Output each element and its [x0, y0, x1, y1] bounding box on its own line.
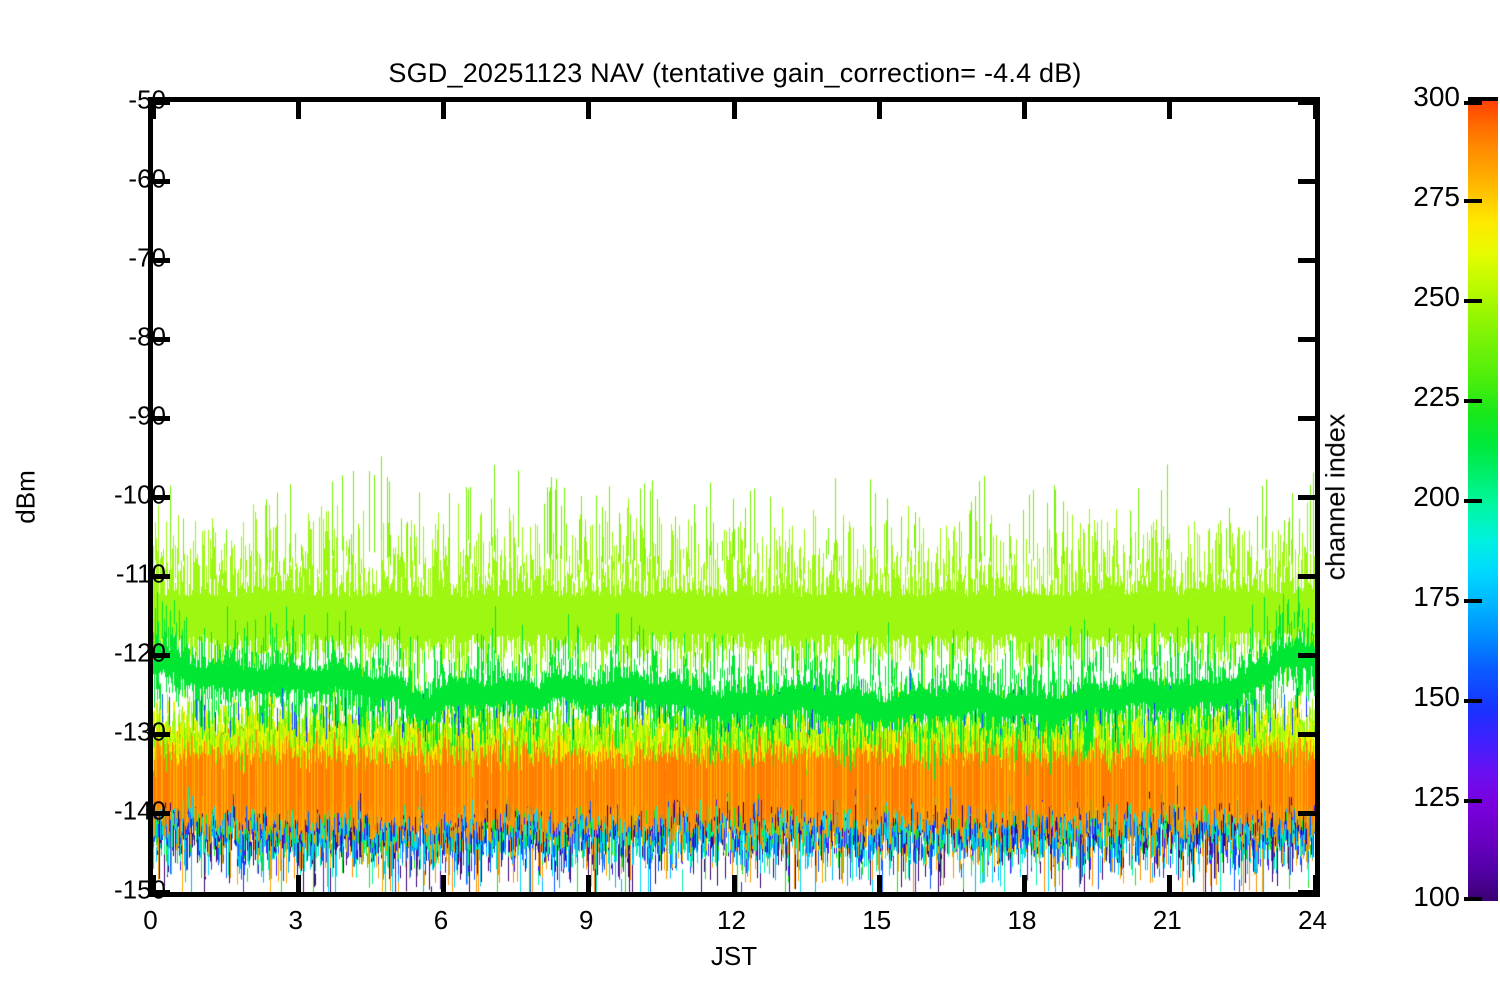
colorbar-tick [1464, 499, 1482, 503]
colorbar-tick-label: 200 [1413, 481, 1460, 513]
figure-root: SGD_20251123 NAV (tentative gain_correct… [0, 0, 1500, 1000]
x-tick [877, 875, 882, 897]
y-tick-label: -130 [114, 716, 166, 747]
y-tick-right [1298, 337, 1320, 342]
x-tick [732, 875, 737, 897]
x-tick-top [441, 97, 446, 119]
colorbar-tick-label: 250 [1413, 281, 1460, 313]
y-tick-label: -70 [128, 242, 166, 273]
colorbar-tick [1464, 599, 1482, 603]
y-tick-label: -50 [128, 84, 166, 115]
x-tick-top [296, 97, 301, 119]
y-tick-label: -60 [128, 163, 166, 194]
colorbar-tick-label: 175 [1413, 581, 1460, 613]
colorbar-tick [1464, 101, 1482, 105]
x-tick-label: 15 [862, 905, 891, 936]
x-tick [1167, 875, 1172, 897]
x-tick [296, 875, 301, 897]
x-tick-top [1313, 97, 1318, 119]
x-tick-label: 0 [143, 905, 157, 936]
y-tick-label: -150 [114, 874, 166, 905]
y-tick-right [1298, 653, 1320, 658]
y-tick-right [1298, 732, 1320, 737]
x-tick-label: 24 [1298, 905, 1327, 936]
colorbar-tick-label: 300 [1413, 81, 1460, 113]
x-tick [586, 875, 591, 897]
y-tick-right [1298, 574, 1320, 579]
y-tick-right [1298, 495, 1320, 500]
colorbar-tick-label: 275 [1413, 181, 1460, 213]
colorbar-tick-label: 225 [1413, 381, 1460, 413]
x-tick-top [732, 97, 737, 119]
x-tick-label: 12 [717, 905, 746, 936]
y-tick-label: -100 [114, 479, 166, 510]
x-tick-top [586, 97, 591, 119]
y-tick-label: -90 [128, 400, 166, 431]
colorbar-tick [1464, 799, 1482, 803]
colorbar-tick-label: 100 [1413, 881, 1460, 913]
colorbar-tick [1464, 299, 1482, 303]
y-tick-label: -120 [114, 637, 166, 668]
y-tick-label: -110 [116, 558, 166, 589]
colorbar [1468, 97, 1498, 901]
x-tick-top [1167, 97, 1172, 119]
x-tick-top [1022, 97, 1027, 119]
x-tick [441, 875, 446, 897]
y-tick-right [1298, 179, 1320, 184]
colorbar-title: channel index [1321, 414, 1352, 581]
x-tick-label: 6 [434, 905, 448, 936]
x-tick-label: 9 [579, 905, 593, 936]
y-tick-right [1298, 416, 1320, 421]
y-tick-label: -140 [114, 795, 166, 826]
x-tick [1313, 875, 1318, 897]
colorbar-tick [1464, 399, 1482, 403]
spectrogram-canvas [153, 102, 1315, 892]
y-tick-right [1298, 258, 1320, 263]
x-axis-title: JST [711, 941, 757, 972]
colorbar-tick-label: 125 [1413, 781, 1460, 813]
y-tick-label: -80 [128, 321, 166, 352]
y-axis-title: dBm [11, 470, 42, 523]
x-tick-label: 21 [1153, 905, 1182, 936]
colorbar-tick [1464, 199, 1482, 203]
plot-canvas-wrap [153, 102, 1315, 892]
y-tick-right [1298, 811, 1320, 816]
plot-axes [148, 97, 1320, 897]
x-tick-top [877, 97, 882, 119]
colorbar-tick-label: 150 [1413, 681, 1460, 713]
page-title: SGD_20251123 NAV (tentative gain_correct… [0, 58, 1470, 89]
colorbar-tick [1464, 897, 1482, 901]
colorbar-tick [1464, 699, 1482, 703]
x-tick-label: 3 [289, 905, 303, 936]
x-tick [1022, 875, 1027, 897]
x-tick-label: 18 [1008, 905, 1037, 936]
